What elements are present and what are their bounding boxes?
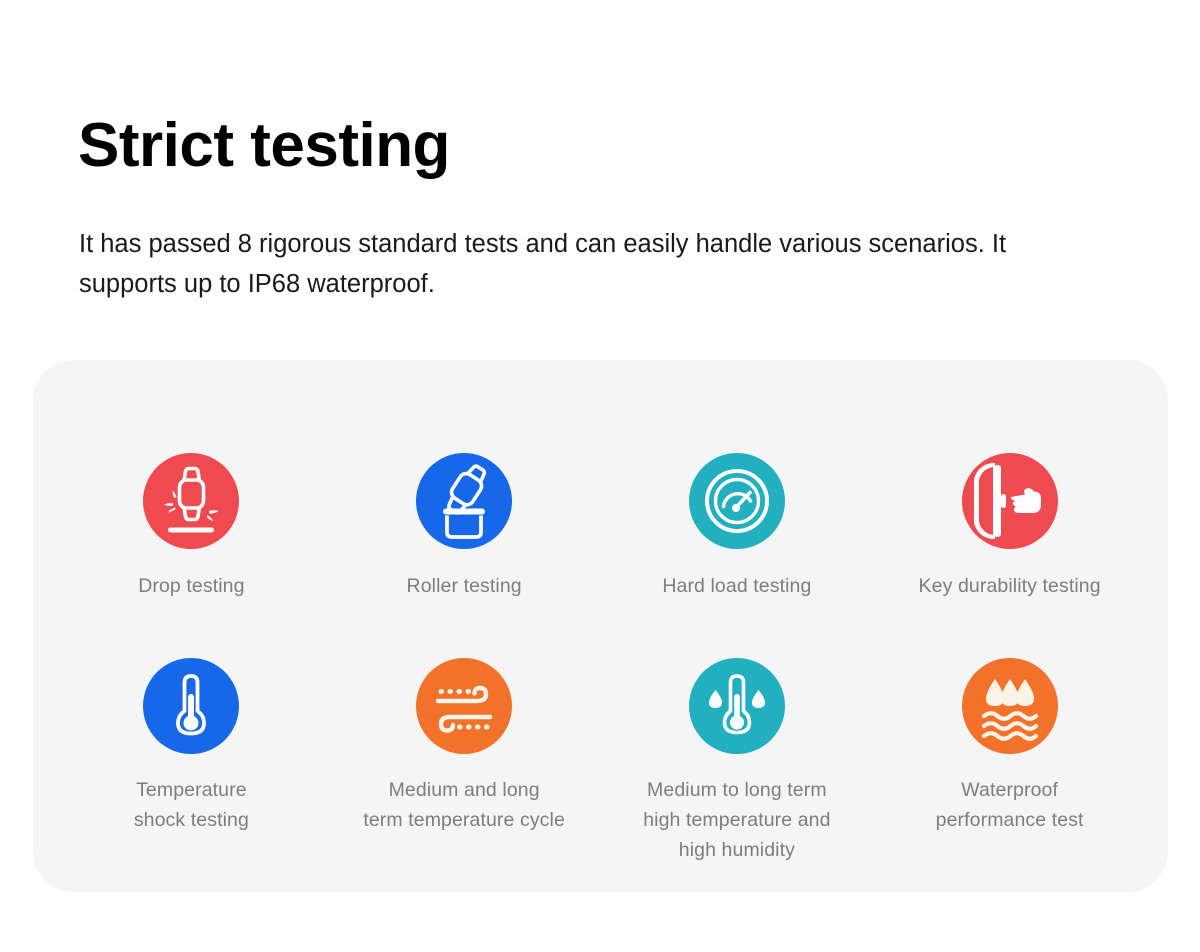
test-item-temperature-shock-testing[interactable]: Temperature shock testing <box>55 658 328 892</box>
key-durability-icon-badge <box>962 453 1058 549</box>
page-description: It has passed 8 rigorous standard tests … <box>79 224 1039 304</box>
test-item-label: Waterproof performance test <box>936 775 1084 835</box>
test-item-label: Key durability testing <box>919 571 1101 601</box>
test-item-key-durability-testing[interactable]: Key durability testing <box>873 453 1146 658</box>
waterproof-icon-badge <box>962 658 1058 754</box>
watch-drop-impact-icon <box>143 453 239 549</box>
test-item-hard-load-testing[interactable]: Hard load testing <box>601 453 874 658</box>
watch-tumbling-drum-icon <box>416 453 512 549</box>
gauge-speedometer-icon <box>689 453 785 549</box>
watch-side-button-press-icon <box>962 453 1058 549</box>
testing-card: Drop testing <box>33 360 1168 892</box>
test-item-roller-testing[interactable]: Roller testing <box>328 453 601 658</box>
thermometer-icon <box>143 658 239 754</box>
wind-airflow-icon <box>416 658 512 754</box>
test-item-temperature-cycle-testing[interactable]: Medium and long term temperature cycle <box>328 658 601 892</box>
high-temp-humidity-icon-badge <box>689 658 785 754</box>
strict-testing-page: Strict testing It has passed 8 rigorous … <box>0 0 1200 952</box>
hard-load-testing-icon-badge <box>689 453 785 549</box>
page-title: Strict testing <box>78 112 450 180</box>
test-item-high-temp-humidity-testing[interactable]: Medium to long term high temperature and… <box>601 658 874 892</box>
test-item-label: Medium to long term high temperature and… <box>643 775 830 865</box>
test-item-label: Temperature shock testing <box>134 775 249 835</box>
test-item-label: Medium and long term temperature cycle <box>363 775 565 835</box>
test-item-label: Drop testing <box>138 571 244 601</box>
test-item-label: Hard load testing <box>662 571 811 601</box>
test-item-waterproof-performance-test[interactable]: Waterproof performance test <box>873 658 1146 892</box>
water-droplets-waves-icon <box>962 658 1058 754</box>
test-item-label: Roller testing <box>407 571 522 601</box>
thermometer-humidity-icon <box>689 658 785 754</box>
drop-testing-icon-badge <box>143 453 239 549</box>
testing-grid: Drop testing <box>33 360 1168 892</box>
roller-testing-icon-badge <box>416 453 512 549</box>
temperature-cycle-icon-badge <box>416 658 512 754</box>
test-item-drop-testing[interactable]: Drop testing <box>55 453 328 658</box>
temperature-shock-icon-badge <box>143 658 239 754</box>
